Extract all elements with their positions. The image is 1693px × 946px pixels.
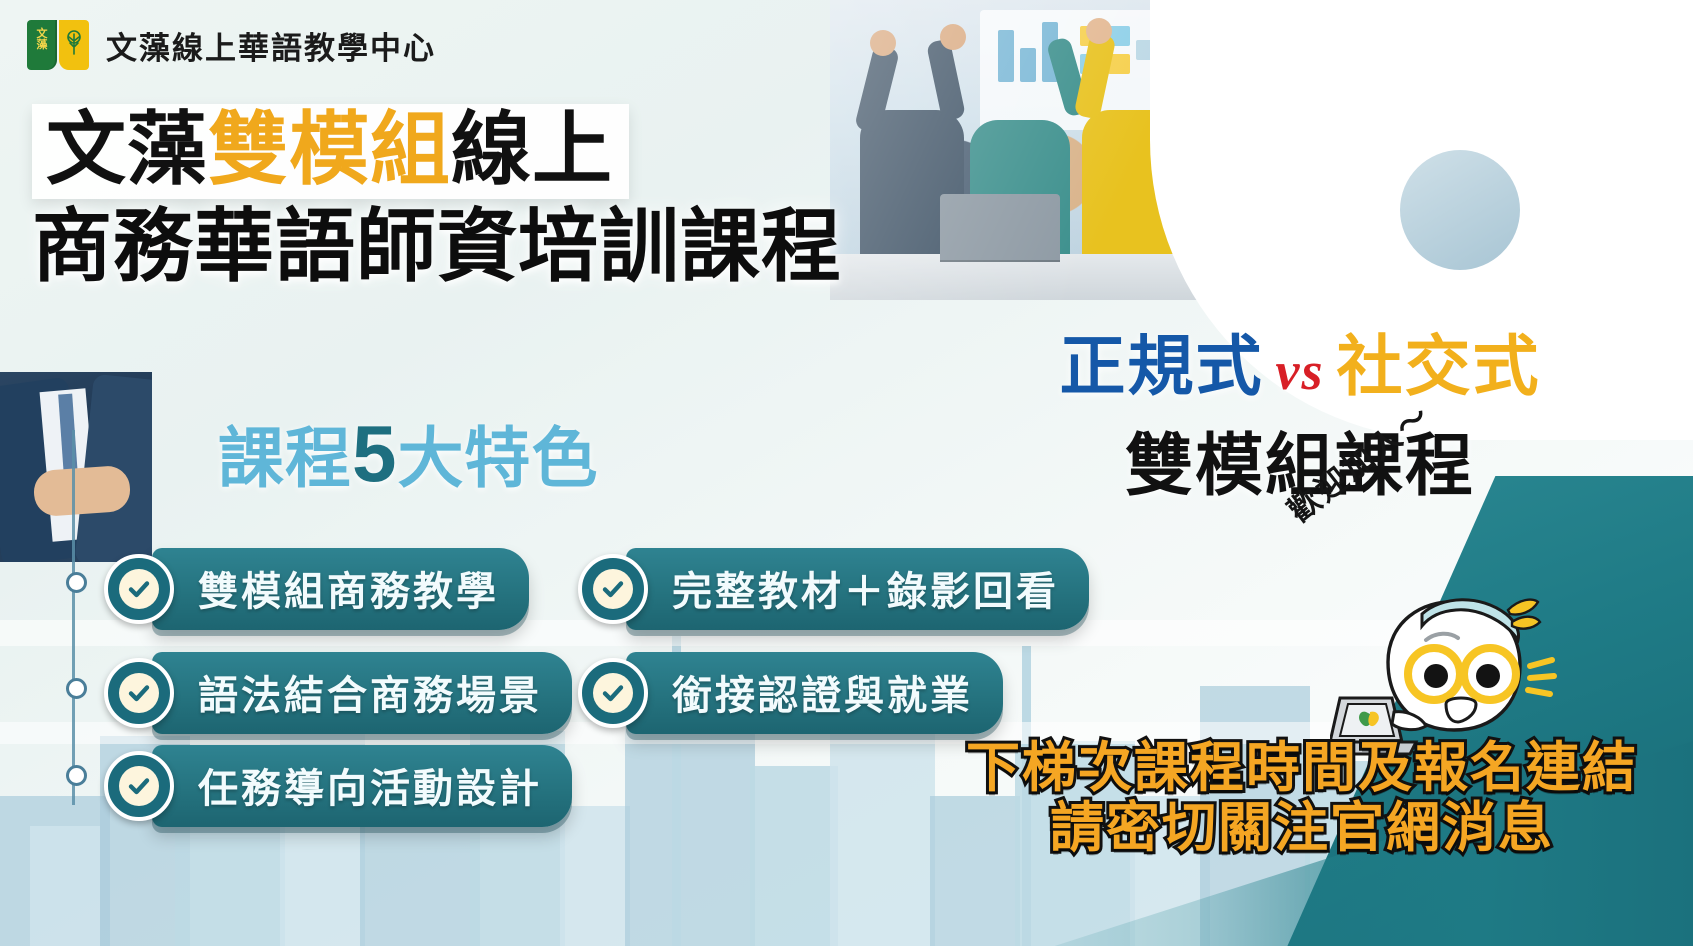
logo-text: 文藻 [32, 28, 52, 50]
features-heading: 課程5大特色 [218, 405, 599, 501]
feature-label: 任務導向活動設計 [152, 745, 572, 827]
vs-label: vs [1276, 341, 1325, 401]
promotional-poster: 文藻 文藻線上華語教學中心 文藻雙模組線上 商務華語師資培訓課程 正規式vs社交… [0, 0, 1693, 946]
check-badge [104, 658, 174, 728]
check-icon [127, 577, 151, 601]
swoosh-accent-dot [1400, 150, 1520, 270]
check-icon [127, 774, 151, 798]
check-icon [127, 681, 151, 705]
feature-pill[interactable]: 完整教材＋錄影回看 [578, 548, 1089, 630]
cta-line-2: 請密切關注官網消息 [935, 798, 1669, 858]
rail-dot [66, 572, 87, 593]
features-heading-pre: 課程 [218, 420, 352, 497]
handshake-photo [0, 372, 152, 562]
wenzao-logo-icon: 文藻 [26, 16, 92, 74]
feature-label: 雙模組商務教學 [152, 548, 529, 630]
rail-dot [66, 765, 87, 786]
feature-pill[interactable]: 銜接認證與就業 [578, 652, 1003, 734]
check-badge [104, 554, 174, 624]
check-badge [578, 658, 648, 728]
cta-block: 下梯次課程時間及報名連結 請密切關注官網消息 [935, 738, 1669, 859]
feature-label: 銜接認證與就業 [626, 652, 1003, 734]
features-heading-post: 大特色 [398, 420, 599, 497]
feature-pill[interactable]: 任務導向活動設計 [104, 745, 572, 827]
site-header: 文藻 文藻線上華語教學中心 [26, 16, 436, 74]
feature-pill[interactable]: 語法結合商務場景 [104, 652, 572, 734]
title-line-1: 文藻雙模組線上 [32, 104, 629, 199]
mode-comparison-line: 正規式vs社交式 [1000, 330, 1600, 404]
mode-formal-label: 正規式 [1060, 328, 1264, 405]
rail-dot [66, 678, 87, 699]
feature-label: 完整教材＋錄影回看 [626, 548, 1089, 630]
title-line1-highlight: 雙模組 [208, 103, 451, 196]
feature-label: 語法結合商務場景 [152, 652, 572, 734]
tree-icon [66, 30, 82, 56]
check-badge [104, 751, 174, 821]
org-title: 文藻線上華語教學中心 [106, 23, 436, 68]
features-count: 5 [352, 409, 398, 498]
check-badge [578, 554, 648, 624]
cta-line-1: 下梯次課程時間及報名連結 [935, 738, 1669, 798]
mode-social-label: 社交式 [1336, 328, 1540, 405]
title-line1-pre: 文藻 [46, 103, 208, 196]
main-title: 文藻雙模組線上 商務華語師資培訓課程 [32, 104, 842, 290]
feature-pill[interactable]: 雙模組商務教學 [104, 548, 529, 630]
title-line-2: 商務華語師資培訓課程 [32, 205, 842, 290]
title-line1-post: 線上 [451, 103, 613, 196]
timeline-rail [72, 430, 75, 805]
check-icon [601, 681, 625, 705]
check-icon [601, 577, 625, 601]
